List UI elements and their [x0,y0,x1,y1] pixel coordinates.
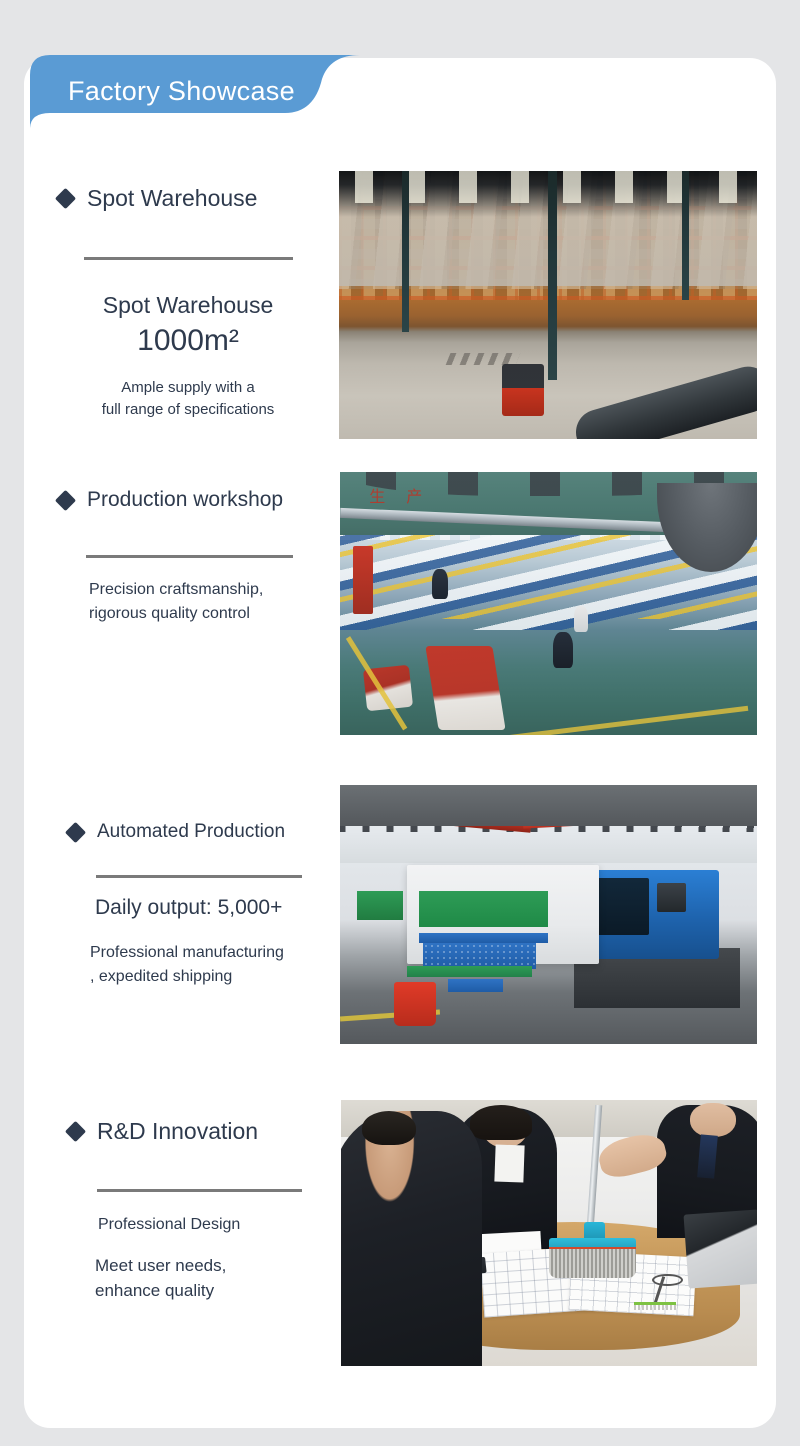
section-divider [96,875,302,878]
section-heading-spot-warehouse: Spot Warehouse [58,185,257,212]
section-divider [84,257,293,260]
section-heading-label: Production workshop [87,488,283,512]
diamond-icon [55,188,76,209]
section-heading-label: Automated Production [97,821,285,843]
section-heading-rd-innovation: R&D Innovation [68,1118,258,1145]
warehouse-description: Ample supply with a full range of specif… [28,377,348,421]
automated-production-photo [340,785,757,1044]
diamond-icon [65,1121,86,1142]
warehouse-stat: 1000m² [28,322,348,360]
automated-headline: Daily output: 5,000+ [95,893,345,923]
factory-showcase-page: Factory Showcase Spot Warehouse Spot War… [0,0,800,1446]
section-divider [97,1189,302,1192]
rd-innovation-photo [341,1100,757,1366]
section-divider [86,555,293,558]
workshop-description: Precision craftsmanship, rigorous qualit… [89,578,329,626]
header-tab: Factory Showcase [30,55,380,135]
section-heading-label: Spot Warehouse [87,185,257,212]
automated-description: Professional manufacturing , expedited s… [90,941,340,989]
rd-headline: Professional Design [98,1213,348,1237]
section-heading-production-workshop: Production workshop [58,488,283,512]
diamond-icon [65,821,86,842]
workshop-sign-text: 生 产 [369,483,430,507]
page-title: Factory Showcase [68,76,295,107]
section-heading-label: R&D Innovation [97,1118,258,1145]
spot-warehouse-photo [339,171,757,439]
rd-description: Meet user needs, enhance quality [95,1253,345,1303]
section-heading-automated-production: Automated Production [68,821,285,843]
production-workshop-photo: 生 产 [340,472,757,735]
diamond-icon [55,489,76,510]
warehouse-headline: Spot Warehouse [28,290,348,320]
